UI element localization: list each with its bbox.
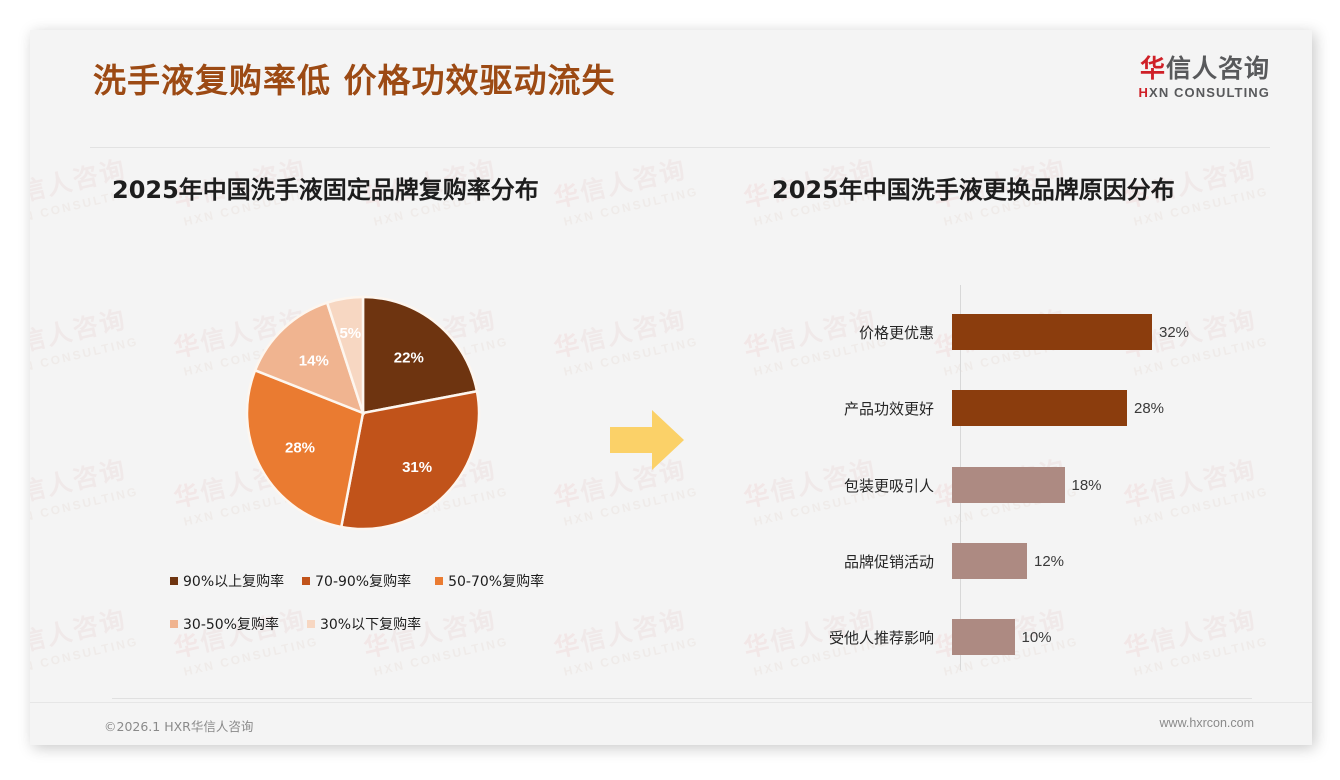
bar-fill-0[interactable] [952,314,1152,350]
logo-chinese-name: 华信人咨询 [1139,56,1270,82]
watermark-tile: 华信人咨询HXN CONSULTING [30,598,140,680]
pie-value-label-0: 22% [394,350,424,367]
bar-value-label-0: 32% [1159,324,1189,341]
logo-cn-red-char: 华 [1140,54,1166,83]
bar-value-label-3: 12% [1034,553,1064,570]
legend-item-0[interactable]: 90%以上复购率 [170,571,284,591]
pie-value-label-1: 31% [402,459,432,476]
pie-value-label-3: 14% [299,353,329,370]
bar-row-3: 品牌促销活动12% [772,543,1272,579]
bar-fill-2[interactable] [952,467,1065,503]
right-chart-title: 2025年中国洗手液更换品牌原因分布 [772,170,1175,205]
legend-swatch-icon-2 [435,577,443,585]
bar-value-label-2: 18% [1072,477,1102,494]
repurchase-rate-pie-chart: 22%31%28%14%5% [228,295,498,540]
legend-swatch-icon-1 [302,577,310,585]
logo-en-red-char: H [1139,85,1150,100]
legend-label-3: 30-50%复购率 [183,614,279,634]
legend-item-3[interactable]: 30-50%复购率 [170,614,279,634]
watermark-tile: 华信人咨询HXN CONSULTING [550,298,700,380]
bar-category-label-0: 价格更优惠 [772,322,952,343]
pie-value-label-4: 5% [339,325,361,342]
legend-label-0: 90%以上复购率 [183,571,284,591]
legend-label-1: 70-90%复购率 [315,571,411,591]
legend-swatch-icon-3 [170,620,178,628]
legend-row-2: 30-50%复购率 30%以下复购率 [170,614,600,634]
bar-category-label-3: 品牌促销活动 [772,551,952,572]
legend-item-2[interactable]: 50-70%复购率 [435,571,544,591]
page-title: 洗手液复购率低 价格功效驱动流失 [93,54,616,102]
bar-row-1: 产品功效更好28% [772,390,1272,426]
legend-swatch-icon-0 [170,577,178,585]
arrow-svg [608,405,686,475]
bar-fill-4[interactable] [952,619,1015,655]
bar-track-0: 32% [952,314,1272,350]
slide-header: 洗手液复购率低 价格功效驱动流失 华信人咨询 HXN CONSULTING [30,30,1312,112]
bar-category-label-2: 包装更吸引人 [772,475,952,496]
logo-cn-rest: 信人咨询 [1166,54,1270,83]
watermark-tile: 华信人咨询HXN CONSULTING [30,298,140,380]
bar-track-2: 18% [952,467,1272,503]
bar-row-4: 受他人推荐影响10% [772,619,1272,655]
logo-en-rest: XN CONSULTING [1149,85,1270,100]
website-url[interactable]: www.hxrcon.com [1160,716,1254,730]
copyright-text: ©2026.1 HXR华信人咨询 [104,716,253,735]
pie-value-label-2: 28% [285,440,315,457]
legend-label-4: 30%以下复购率 [320,614,421,634]
bar-track-3: 12% [952,543,1272,579]
bar-category-label-1: 产品功效更好 [772,398,952,419]
brand-logo: 华信人咨询 HXN CONSULTING [1139,56,1270,100]
bar-track-1: 28% [952,390,1272,426]
legend-item-4[interactable]: 30%以下复购率 [307,614,421,634]
legend-row-1: 90%以上复购率 70-90%复购率 50-70%复购率 [170,571,600,591]
bar-track-4: 10% [952,619,1272,655]
pie-svg: 22%31%28%14%5% [228,295,498,540]
slide-footer: ©2026.1 HXR华信人咨询 www.hxrcon.com [30,702,1312,745]
switch-reason-bar-chart: 价格更优惠32%产品功效更好28%包装更吸引人18%品牌促销活动12%受他人推荐… [772,285,1272,670]
bar-fill-1[interactable] [952,390,1127,426]
logo-english-name: HXN CONSULTING [1139,85,1270,100]
watermark-tile: 华信人咨询HXN CONSULTING [30,448,140,530]
bar-row-2: 包装更吸引人18% [772,467,1272,503]
right-arrow-icon [608,405,686,480]
watermark-tile: 华信人咨询HXN CONSULTING [550,148,700,230]
pie-legend: 90%以上复购率 70-90%复购率 50-70%复购率 30-50%复购率 3… [170,571,600,657]
left-chart-title: 2025年中国洗手液固定品牌复购率分布 [112,170,539,205]
legend-item-1[interactable]: 70-90%复购率 [302,571,411,591]
bar-row-0: 价格更优惠32% [772,314,1272,350]
bar-value-label-4: 10% [1022,629,1052,646]
bar-value-label-1: 28% [1134,400,1164,417]
bar-category-label-4: 受他人推荐影响 [772,627,952,648]
header-divider [90,147,1270,148]
bar-fill-3[interactable] [952,543,1027,579]
slide-canvas: 华信人咨询HXN CONSULTING华信人咨询HXN CONSULTING华信… [30,30,1312,745]
legend-label-2: 50-70%复购率 [448,571,544,591]
legend-swatch-icon-4 [307,620,315,628]
note-divider [112,698,1252,699]
